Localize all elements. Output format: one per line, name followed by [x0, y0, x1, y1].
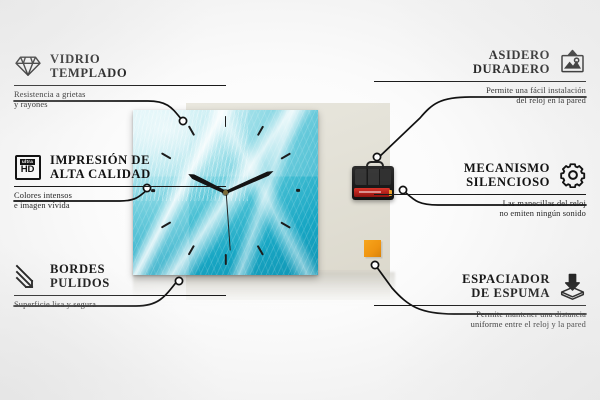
feature-desc-line2: uniforme entre el reloj y la pared: [374, 320, 586, 331]
hour-marker-12: [225, 116, 227, 127]
feature-title-line2: TEMPLADO: [50, 66, 127, 80]
ultra-hd-badge-bottom: HD: [21, 165, 34, 175]
feature-rule: [14, 186, 226, 188]
feature-title-line2: PULIDOS: [50, 276, 110, 290]
polished-edges-icon: [14, 263, 41, 290]
feature-title-line1: MECANISMO: [464, 161, 550, 175]
infographic-canvas: VIDRIO TEMPLADO Resistencia a grietas y …: [0, 0, 600, 400]
feature-desc-line2: del reloj en la pared: [374, 96, 586, 107]
diamond-icon: [14, 53, 41, 80]
hour-marker-3: [296, 189, 300, 192]
feature-rule: [14, 85, 226, 87]
feature-title-line2: DE ESPUMA: [462, 286, 550, 300]
feature-mecanismo-silencioso[interactable]: MECANISMO SILENCIOSO Las manecillas del …: [374, 161, 586, 220]
feature-impresion-alta-calidad[interactable]: ultra HD IMPRESIÓN DE ALTA CALIDAD Color…: [14, 153, 226, 212]
feature-rule: [14, 295, 226, 297]
feature-desc-line1: Permite una fácil instalación: [374, 86, 586, 97]
foam-spacer: [364, 240, 381, 257]
feature-title-line2: ALTA CALIDAD: [50, 167, 151, 181]
feature-title-line2: SILENCIOSO: [464, 175, 550, 189]
feature-rule: [374, 81, 586, 83]
feature-espaciador-de-espuma[interactable]: ESPACIADOR DE ESPUMA Permite mantener un…: [374, 272, 586, 331]
feature-title-line2: DURADERO: [473, 62, 550, 76]
feature-desc-line2: no emiten ningún sonido: [374, 209, 586, 220]
spacer-arrow-icon: [559, 273, 586, 300]
ultra-hd-icon: ultra HD: [14, 154, 41, 181]
feature-rule: [374, 194, 586, 196]
feature-title-line1: ESPACIADOR: [462, 272, 550, 286]
feature-bordes-pulidos[interactable]: BORDES PULIDOS Superficie lisa y segura: [14, 262, 226, 310]
picture-frame-icon: [559, 49, 586, 76]
feature-asidero-duradero[interactable]: ASIDERO DURADERO Permite una fácil insta…: [374, 48, 586, 107]
feature-title-line1: BORDES: [50, 262, 110, 276]
feature-rule: [374, 305, 586, 307]
feature-title-line1: IMPRESIÓN DE: [50, 153, 151, 167]
feature-desc-line2: y rayones: [14, 100, 226, 111]
feature-vidrio-templado[interactable]: VIDRIO TEMPLADO Resistencia a grietas y …: [14, 52, 226, 111]
feature-title-line1: VIDRIO: [50, 52, 127, 66]
feature-desc-line1: Resistencia a grietas: [14, 90, 226, 101]
feature-title-line1: ASIDERO: [473, 48, 550, 62]
feature-desc-line1: Colores intensos: [14, 191, 226, 202]
feature-desc-line1: Permite mantener una distancia: [374, 310, 586, 321]
gear-icon: [559, 162, 586, 189]
feature-desc-line1: Superficie lisa y segura: [14, 300, 226, 311]
feature-desc-line1: Las manecillas del reloj: [374, 199, 586, 210]
feature-desc-line2: e imagen vívida: [14, 201, 226, 212]
